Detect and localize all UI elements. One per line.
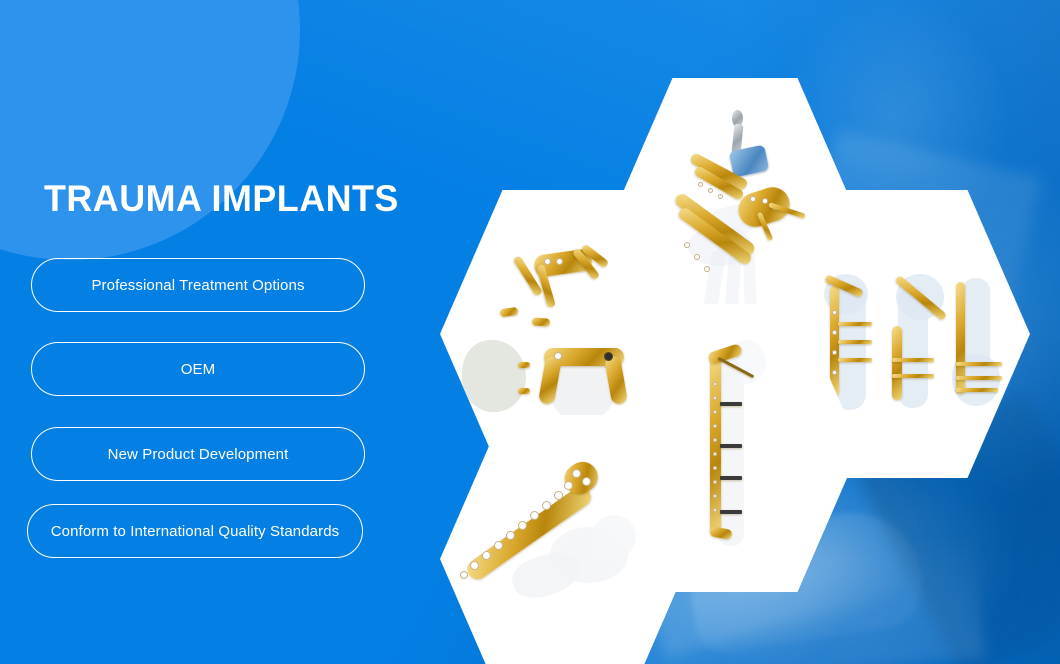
page-title: TRAUMA IMPLANTS [44,178,399,220]
feature-pill-oem[interactable]: OEM [31,342,365,396]
feature-pill-label: New Product Development [108,446,289,463]
feature-pill-professional-treatment-options[interactable]: Professional Treatment Options [31,258,365,312]
left-content-column: TRAUMA IMPLANTS Professional Treatment O… [0,0,420,664]
feature-pill-label: Conform to International Quality Standar… [51,523,340,540]
feature-pill-label: OEM [181,361,215,378]
feature-pill-conform-to-international-quality-standards[interactable]: Conform to International Quality Standar… [27,504,363,558]
product-hexagon-cluster [420,60,1060,630]
feature-pill-label: Professional Treatment Options [91,277,304,294]
feature-pill-new-product-development[interactable]: New Product Development [31,427,365,481]
trauma-implants-banner: TRAUMA IMPLANTS Professional Treatment O… [0,0,1060,664]
